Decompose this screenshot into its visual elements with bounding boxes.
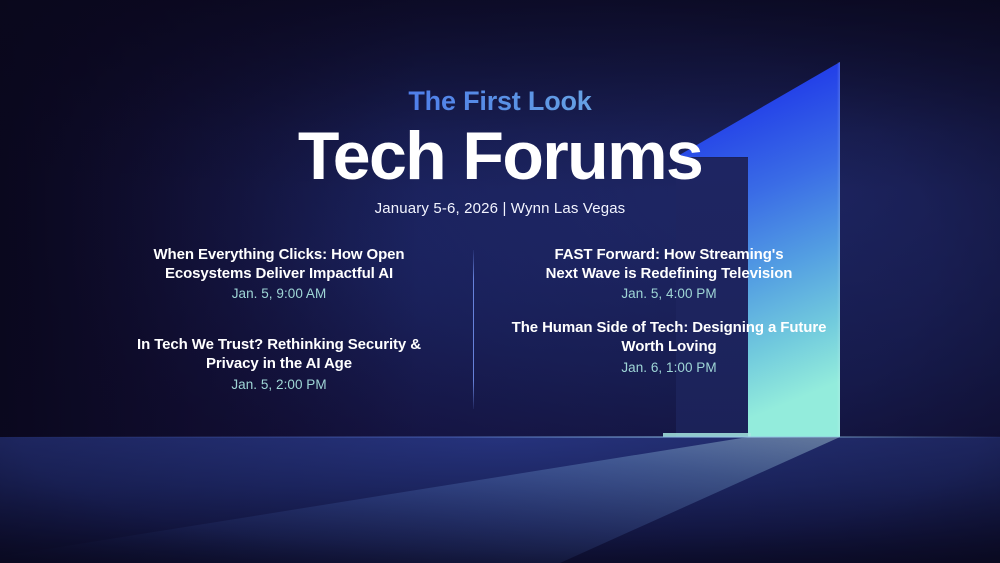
session-item[interactable]: When Everything Clicks: How Open Ecosyst… — [114, 246, 444, 302]
session-column-left: When Everything Clicks: How Open Ecosyst… — [114, 246, 444, 403]
session-date: Jan. 5, 9:00 AM — [114, 286, 444, 302]
session-item[interactable]: FAST Forward: How Streaming's Next Wave … — [539, 246, 799, 302]
session-date: Jan. 5, 4:00 PM — [539, 286, 799, 302]
session-date: Jan. 5, 2:00 PM — [114, 377, 444, 393]
session-title: The Human Side of Tech: Designing a Futu… — [504, 319, 834, 356]
session-item[interactable]: In Tech We Trust? Rethinking Security & … — [114, 336, 444, 392]
session-title: When Everything Clicks: How Open Ecosyst… — [114, 246, 444, 283]
promo-slide: The First Look Tech Forums January 5-6, … — [0, 0, 1000, 563]
session-list: When Everything Clicks: How Open Ecosyst… — [80, 246, 760, 416]
event-subtitle: January 5-6, 2026 | Wynn Las Vegas — [0, 200, 1000, 217]
content-layer: The First Look Tech Forums January 5-6, … — [0, 0, 1000, 563]
session-title: FAST Forward: How Streaming's Next Wave … — [539, 246, 799, 283]
session-column-right: FAST Forward: How Streaming's Next Wave … — [504, 246, 834, 386]
column-divider — [473, 250, 474, 409]
event-eyebrow: The First Look — [0, 86, 1000, 117]
session-title: In Tech We Trust? Rethinking Security & … — [114, 336, 444, 373]
session-date: Jan. 6, 1:00 PM — [504, 360, 834, 376]
page-title: Tech Forums — [0, 122, 1000, 190]
session-item[interactable]: The Human Side of Tech: Designing a Futu… — [504, 319, 834, 375]
